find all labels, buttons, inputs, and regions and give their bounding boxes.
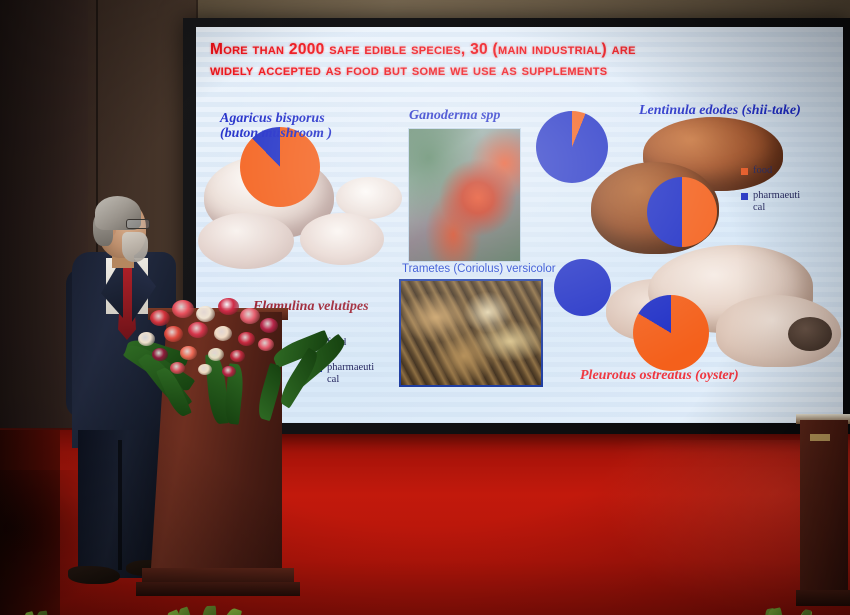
plant-leaf [786, 608, 811, 615]
legend-swatch-food [741, 168, 748, 175]
second-podium-plaque [810, 434, 830, 441]
plant-leaf [33, 611, 51, 615]
flower-bloom [238, 332, 255, 346]
legend-item-food: food [741, 165, 807, 177]
legend-right: food pharmaeuti cal [741, 165, 807, 227]
ganoderma-photo [408, 128, 521, 262]
flower-bloom [196, 306, 215, 322]
flower-bloom [172, 300, 194, 318]
label-pleurotus-ostreatus: Pleurotus ostreatus (oyster) [580, 368, 739, 383]
label-trametes-versicolor: Trametes (Coriolus) versicolor [402, 262, 556, 277]
label-ganoderma-spp: Ganoderma spp [409, 108, 500, 123]
flower-bloom [198, 364, 212, 375]
trametes-photo [399, 279, 543, 387]
foreground-plant-right [700, 530, 850, 615]
label-agaricus-bisporus: Agaricus bisporus (buton mushroom ) [220, 111, 332, 141]
presenter-glasses [126, 219, 150, 229]
legend-label-pharma-line2: cal [327, 374, 339, 385]
label-agaricus-line1: Agaricus bisporus [220, 111, 332, 126]
flower-bloom [152, 348, 168, 361]
flower-bloom [222, 366, 236, 377]
conference-photo: More than 2000 safe edible species, 30 (… [0, 0, 850, 615]
legend-label-food: food [753, 165, 772, 177]
flower-bloom [138, 332, 155, 346]
flower-bloom [150, 310, 170, 326]
foreground-plant-center [108, 520, 308, 615]
legend-label-pharma-line1: pharmaeuti [327, 362, 374, 373]
flower-bloom [208, 348, 224, 361]
flower-bloom [188, 322, 208, 338]
presenter-beard [122, 232, 148, 262]
flower-bloom [218, 298, 239, 315]
pie-chart-lentinula [647, 177, 717, 247]
label-agaricus-line2: (buton mushroom ) [220, 126, 332, 141]
legend-swatch-pharmaceutical [741, 193, 748, 200]
pie-chart-trametes [554, 259, 611, 316]
legend-label-pharmaceutical: pharmaeuti cal [753, 190, 807, 214]
agaricus-mushroom-small-left [198, 213, 294, 269]
flower-bloom [214, 326, 232, 341]
pie-chart-ganoderma [536, 111, 608, 183]
label-lentinula-edodes: Lentinula edodes (shii-take) [639, 103, 801, 118]
flower-bloom [258, 338, 274, 351]
legend-label-pharma-line2: cal [753, 202, 765, 213]
slide-title: More than 2000 safe edible species, 30 (… [210, 39, 830, 81]
flower-bloom [164, 326, 183, 342]
plant-leaf [212, 606, 242, 615]
legend-item-pharmaceutical: pharmaeuti cal [741, 190, 807, 214]
foreground-plant-left [0, 565, 100, 615]
legend-label-pharma-line1: pharmaeuti [753, 190, 800, 201]
slide-title-line2: widely accepted as food but some we use … [210, 60, 830, 81]
pie-chart-pleurotus [633, 295, 709, 371]
slide-title-line1: More than 2000 safe edible species, 30 (… [210, 39, 830, 60]
oyster-mushroom-dark-cap [788, 317, 832, 351]
floral-arrangement [122, 292, 302, 408]
flower-bloom [230, 350, 245, 362]
flower-bloom [260, 318, 278, 333]
legend-label-pharmaceutical: pharmaeuti cal [327, 362, 381, 386]
flower-bloom [240, 308, 260, 324]
flower-bloom [180, 346, 197, 360]
plant-leaf [200, 606, 218, 615]
flower-bloom [170, 362, 185, 374]
agaricus-mushroom-small-right [300, 213, 384, 265]
